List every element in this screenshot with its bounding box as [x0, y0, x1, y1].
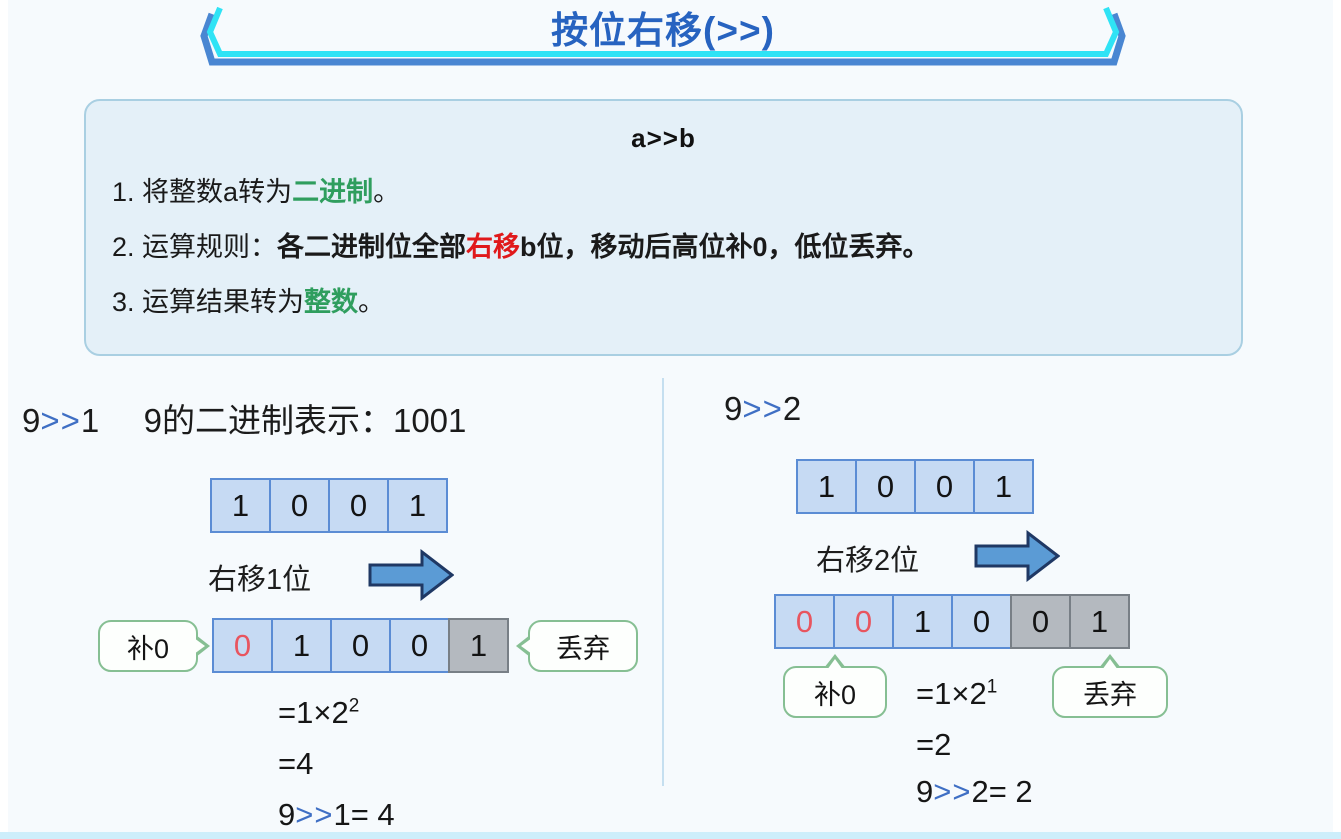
- rule-3-text-plain-a: 运算结果转为: [142, 287, 304, 317]
- right-shift-label: 右移2位: [816, 537, 919, 579]
- formula-header: a>>b: [86, 123, 1241, 154]
- rule-2-bold-a: 各二进制位全部: [277, 232, 466, 262]
- right-expr-operand-a: 9: [724, 390, 742, 427]
- rule-2-text-plain: 运算规则：: [142, 232, 277, 262]
- left-math-1-base: =1×2: [278, 695, 349, 730]
- bit-cell-dropped: 1: [448, 618, 509, 673]
- rule-1-index: 1.: [112, 177, 135, 207]
- left-expr-operand-b: 1: [81, 402, 99, 439]
- right-input-bit-row: 1 0 0 1: [796, 459, 1034, 514]
- left-expr-operand-a: 9: [22, 402, 40, 439]
- callout-tail-up-icon: [824, 654, 846, 668]
- left-expression-heading: 9>>1 9的二进制表示：1001: [22, 394, 466, 442]
- rule-item-2: 2. 运算规则：各二进制位全部右移b位，移动后高位补0，低位丢弃。: [112, 225, 1241, 264]
- rule-2-index: 2.: [112, 232, 135, 262]
- left-expr-operator: >>: [40, 402, 81, 439]
- rule-1-text-plain-a: 将整数a转为: [142, 177, 292, 207]
- left-result-operator: >>: [295, 797, 333, 832]
- bit-cell-padded: 0: [212, 618, 273, 673]
- title-banner: 按位右移(>>): [198, 0, 1128, 78]
- left-shift-label: 右移1位: [208, 556, 311, 598]
- bottom-accent-bar: [0, 832, 1341, 839]
- left-callout-discard-label: 丢弃: [556, 627, 610, 666]
- bit-cell: 1: [271, 618, 332, 673]
- right-callout-pad-label: 补0: [814, 673, 856, 712]
- right-math-1-exponent: 1: [987, 677, 998, 698]
- rule-1-highlight: 二进制: [292, 177, 373, 207]
- right-result-bit-row: 0 0 1 0 0 1: [774, 594, 1130, 649]
- example-panel-left: 9>>1 9的二进制表示：1001 1 0 0 1 右移1位 0 1 0 0 1…: [0, 378, 662, 839]
- right-callout-pad-zero: 补0: [783, 666, 887, 718]
- right-result-value: 2= 2: [971, 774, 1032, 809]
- right-arrow-icon: [368, 549, 454, 606]
- left-callout-pad-label: 补0: [127, 627, 169, 666]
- rules-info-box: a>>b 1. 将整数a转为二进制。 2. 运算规则：各二进制位全部右移b位，移…: [84, 99, 1243, 356]
- bit-cell: 1: [973, 459, 1034, 514]
- right-math-1-base: =1×2: [916, 676, 987, 711]
- rule-3-highlight: 整数: [304, 287, 358, 317]
- callout-tail-left-icon: [516, 635, 530, 657]
- left-math-line-1: =1×22: [278, 695, 359, 731]
- bit-cell-padded: 0: [833, 594, 894, 649]
- right-result-operand-a: 9: [916, 774, 933, 809]
- bit-cell-dropped: 1: [1069, 594, 1130, 649]
- bit-cell: 0: [855, 459, 916, 514]
- left-result-line: 9>>1= 4: [278, 797, 395, 833]
- rule-3-text-plain-b: 。: [358, 287, 385, 317]
- left-result-bit-row: 0 1 0 0 1: [212, 618, 509, 673]
- left-callout-pad-zero: 补0: [98, 620, 198, 672]
- right-gutter: [1333, 0, 1341, 839]
- rule-item-3: 3. 运算结果转为整数。: [112, 280, 1241, 319]
- example-panel-right: 9>>2 1 0 0 1 右移2位 0 0 1 0 0 1 补0 丢弃: [664, 378, 1341, 839]
- right-callout-discard: 丢弃: [1052, 666, 1168, 718]
- rule-item-1: 1. 将整数a转为二进制。: [112, 170, 1241, 209]
- bit-cell: 0: [951, 594, 1012, 649]
- left-result-operand-a: 9: [278, 797, 295, 832]
- page-title: 按位右移(>>): [198, 0, 1128, 54]
- bit-cell: 1: [387, 478, 448, 533]
- right-expr-operand-b: 2: [783, 390, 801, 427]
- callout-tail-up-icon: [1099, 654, 1121, 668]
- bit-cell: 1: [210, 478, 271, 533]
- left-result-value: 1= 4: [333, 797, 394, 832]
- left-gutter: [0, 0, 8, 839]
- right-math-line-1: =1×21: [916, 676, 997, 712]
- right-callout-discard-label: 丢弃: [1083, 673, 1137, 712]
- left-input-bit-row: 1 0 0 1: [210, 478, 448, 533]
- left-math-1-exponent: 2: [349, 696, 360, 717]
- rule-1-text-plain-b: 。: [373, 177, 400, 207]
- bit-cell: 0: [330, 618, 391, 673]
- bit-cell: 0: [389, 618, 450, 673]
- rule-2-bold-b: b位，移动后高位补0，低位丢弃。: [520, 232, 930, 262]
- right-arrow-icon: [974, 530, 1060, 587]
- bit-cell: 0: [328, 478, 389, 533]
- slide-canvas: 按位右移(>>) a>>b 1. 将整数a转为二进制。 2. 运算规则：各二进制…: [0, 0, 1341, 839]
- right-result-operator: >>: [933, 774, 971, 809]
- callout-tail-right-icon: [196, 635, 210, 657]
- rule-2-highlight: 右移: [466, 232, 520, 262]
- rule-3-index: 3.: [112, 287, 135, 317]
- bit-cell: 1: [796, 459, 857, 514]
- right-expr-operator: >>: [742, 390, 783, 427]
- bit-cell: 0: [269, 478, 330, 533]
- bit-cell-padded: 0: [774, 594, 835, 649]
- right-expression-heading: 9>>2: [724, 390, 801, 428]
- right-math-line-2: =2: [916, 727, 951, 763]
- bit-cell-dropped: 0: [1010, 594, 1071, 649]
- right-result-line: 9>>2= 2: [916, 774, 1033, 810]
- bit-cell: 0: [914, 459, 975, 514]
- left-callout-discard: 丢弃: [528, 620, 638, 672]
- bit-cell: 1: [892, 594, 953, 649]
- left-math-line-2: =4: [278, 746, 313, 782]
- left-binary-note: 9的二进制表示：1001: [144, 402, 467, 439]
